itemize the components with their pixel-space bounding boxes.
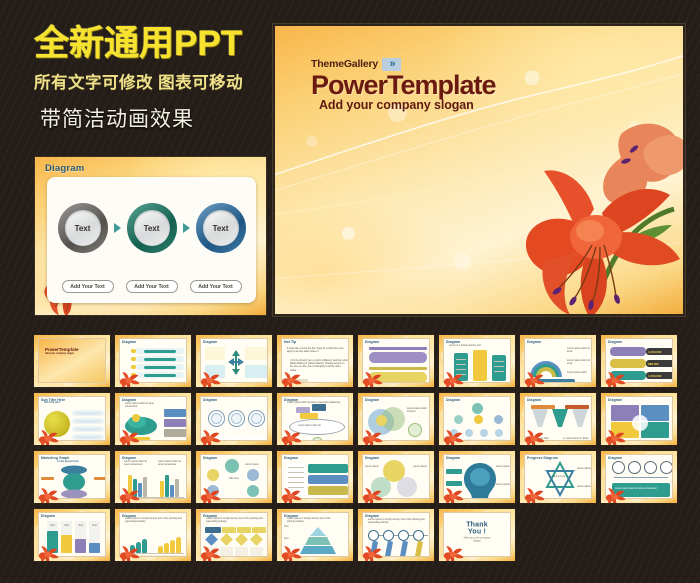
thumbnail-title: Hot Tip <box>284 340 296 344</box>
slide-thumbnail[interactable]: Diagram <box>114 334 192 388</box>
slide-thumbnail[interactable]: Diagram <box>195 334 273 388</box>
slide-thumbnail[interactable]: DiagramLorem ipsum dolor sit amet consec… <box>114 450 192 504</box>
slide-thumbnail[interactable]: DiagramLorem ipsum Lorem ipsum Lorem ips… <box>357 450 435 504</box>
caption-pill-2[interactable]: Add Your Text <box>126 280 178 293</box>
slide-thumbnail[interactable]: DiagramLorem ipsum dolor sit amet consec… <box>600 392 678 446</box>
lily-flower-icon <box>438 481 466 504</box>
lily-flower-icon <box>33 481 61 504</box>
slide-thumbnail-grid: PowerTemplate PowerTemplate Add your com… <box>33 334 685 566</box>
thumbnail-title: Diagram <box>203 340 217 344</box>
thumbnail-title: Diagram <box>365 398 379 402</box>
slide-thumbnail[interactable]: DiagramLorem ipsum dolor sit amet consec… <box>114 392 192 446</box>
thumbnail-row-3: Marketing GraphLorem Ipsum Dolor Diagram… <box>33 450 685 504</box>
lily-flower-icon <box>195 539 223 562</box>
lily-flower-icon <box>357 481 385 504</box>
slide-thumbnail[interactable]: Diagram Lorem ipsum dolor sit amet Lorem… <box>519 334 597 388</box>
brand-logo: ThemeGallery » PowerTemplate Add your co… <box>311 58 496 112</box>
caption-pill-row: Add Your Text Add Your Text Add Your Tex… <box>47 280 256 293</box>
thumbnail-row-1: PowerTemplate PowerTemplate Add your com… <box>33 334 685 388</box>
diagram-preview-slide[interactable]: Diagram Text Text Te <box>34 156 267 316</box>
slide-thumbnail[interactable]: DiagramLorem Ipsum is simply dummy text … <box>195 508 273 562</box>
lily-flower-icon <box>114 539 142 562</box>
arrow-right-icon-1 <box>114 223 121 233</box>
thumbnail-title: Diagram <box>41 514 55 518</box>
lily-flower-illustration <box>474 113 685 316</box>
slide-thumbnail[interactable]: DiagramLorem is a simple dummy text <box>438 334 516 388</box>
slide-thumbnail[interactable]: Diagram Lorem ipsum dolor 1. Lorem ipsum… <box>519 392 597 446</box>
brand-name: ThemeGallery <box>311 59 378 70</box>
thumbnail-title: Diagram <box>608 398 622 402</box>
process-ring-3-label: Text <box>213 224 229 233</box>
process-ring-2[interactable]: Text <box>127 203 177 253</box>
slide-thumbnail[interactable]: DiagramTitle hereLorem ipsum Lorem ipsum <box>195 450 273 504</box>
lily-flower-icon <box>519 365 547 388</box>
lily-flower-icon <box>276 365 304 388</box>
slide-thumbnail[interactable]: Diagram Lorem ipsum dolor Lorem ipsum do… <box>438 450 516 504</box>
arrow-right-icon-2 <box>183 223 190 233</box>
slide-thumbnail[interactable]: Sub Title HereSub Title Here <box>33 392 111 446</box>
poster-headline-block: 全新通用PPT 所有文字可修改 图表可移动 带简洁动画效果 <box>34 24 270 133</box>
lily-flower-icon <box>276 481 304 504</box>
main-title-slide[interactable]: ThemeGallery » PowerTemplate Add your co… <box>273 24 685 316</box>
slide-thumbnail[interactable]: Marketing GraphLorem Ipsum Dolor <box>33 450 111 504</box>
slide-thumbnail[interactable]: Hot TipIt looks like a circle but this. … <box>276 334 354 388</box>
thumbnail-row-2: Sub Title HereSub Title Here DiagramLore… <box>33 392 685 446</box>
lily-flower-icon <box>114 481 142 504</box>
lily-flower-icon <box>438 423 466 446</box>
lily-flower-icon <box>195 481 223 504</box>
thumbnail-title: Progress Diagram <box>527 456 558 460</box>
diagram-content-card: Text Text Text Add Your Text Add Your Te… <box>47 177 256 303</box>
lily-flower-icon <box>195 423 223 446</box>
slide-thumbnail[interactable]: Diagram <box>195 392 273 446</box>
lily-flower-icon <box>519 423 547 446</box>
lily-flower-icon <box>600 481 628 504</box>
slide-thumbnail[interactable]: Diagram1,000,000888,0001,500,000 <box>600 334 678 388</box>
thumbnail-title: Diagram <box>203 456 217 460</box>
lily-flower-icon <box>357 539 385 562</box>
lily-flower-icon <box>195 365 223 388</box>
lily-flower-icon <box>519 481 547 504</box>
thumbnail-canvas: PowerTemplate PowerTemplate Add your com… <box>38 338 106 383</box>
slide-thumbnail[interactable]: DiagramLorem Ipsum is simply dummy text … <box>276 508 354 562</box>
lily-flower-icon <box>33 539 61 562</box>
slide-thumbnail[interactable]: DiagramLorem ipsum dolor sit ametLorem i… <box>357 392 435 446</box>
lily-flower-icon <box>600 365 628 388</box>
process-ring-row: Text Text Text <box>47 203 256 253</box>
slide-thumbnail[interactable]: DiagramLorem ipsum dolor sit amet consec… <box>276 392 354 446</box>
poster-thirdline: 带简洁动画效果 <box>34 103 270 133</box>
thumbnail-title: Diagram <box>608 456 622 460</box>
lily-flower-icon <box>438 539 466 562</box>
slide-thumbnail[interactable]: DiagramLorem ipsum dolor sit amet consec… <box>600 450 678 504</box>
lily-flower-icon <box>357 423 385 446</box>
process-ring-1-label: Text <box>75 224 91 233</box>
thumbnail-title: Diagram <box>365 456 379 460</box>
lily-flower-icon <box>114 365 142 388</box>
caption-pill-1[interactable]: Add Your Text <box>62 280 114 293</box>
slide-title: PowerTemplate <box>311 72 496 99</box>
thumbnail-title: Diagram <box>446 456 460 460</box>
slide-thumbnail[interactable]: Diagram <box>438 392 516 446</box>
lily-flower-icon <box>276 539 304 562</box>
thumbnail-title: Diagram <box>365 340 379 344</box>
caption-pill-3[interactable]: Add Your Text <box>190 280 242 293</box>
thumbnail-title: Diagram <box>527 340 541 344</box>
lily-flower-icon <box>276 423 304 446</box>
slide-thumbnail[interactable]: Diagram <box>276 450 354 504</box>
thumbnail-title: Diagram <box>446 398 460 402</box>
slide-slogan: Add your company slogan <box>311 99 496 112</box>
slide-thumbnail[interactable]: PowerTemplate PowerTemplate Add your com… <box>33 334 111 388</box>
slide-thumbnail[interactable]: DiagramLorem Ipsum is simply dummy text … <box>114 508 192 562</box>
lily-flower-icon <box>357 365 385 388</box>
process-ring-3[interactable]: Text <box>196 203 246 253</box>
poster-subheadline: 所有文字可修改 图表可移动 <box>34 69 270 93</box>
process-ring-2-label: Text <box>144 224 160 233</box>
slide-thumbnail[interactable]: DiagramLorem Ipsum is simply dummy text … <box>357 508 435 562</box>
thumbnail-row-4: DiagramTextTextTextText DiagramLorem Ips… <box>33 508 685 562</box>
lily-flower-icon <box>600 423 628 446</box>
slide-thumbnail[interactable]: DiagramTextTextTextText <box>33 508 111 562</box>
slide-thumbnail[interactable]: Thank You ! Add your own company slogan <box>438 508 516 562</box>
lily-flower-icon <box>33 423 61 446</box>
diagram-heading: Diagram <box>45 163 84 174</box>
thumbnail-title: Diagram <box>122 340 136 344</box>
thumbnail-title: Diagram <box>284 456 298 460</box>
thumbnail-title: Diagram <box>608 340 622 344</box>
thank-you-title: Thank You ! <box>461 521 494 535</box>
thumbnail-title: Diagram <box>527 398 541 402</box>
thumbnail-title: Diagram <box>203 398 217 402</box>
slide-thumbnail[interactable]: Progress Diagram Text in here Lorem ipsu… <box>519 450 597 504</box>
poster-headline: 全新通用PPT <box>34 24 270 63</box>
lily-flower-icon <box>114 423 142 446</box>
lily-flower-icon <box>438 365 466 388</box>
process-ring-1[interactable]: Text <box>58 203 108 253</box>
slide-thumbnail[interactable]: Diagram <box>357 334 435 388</box>
